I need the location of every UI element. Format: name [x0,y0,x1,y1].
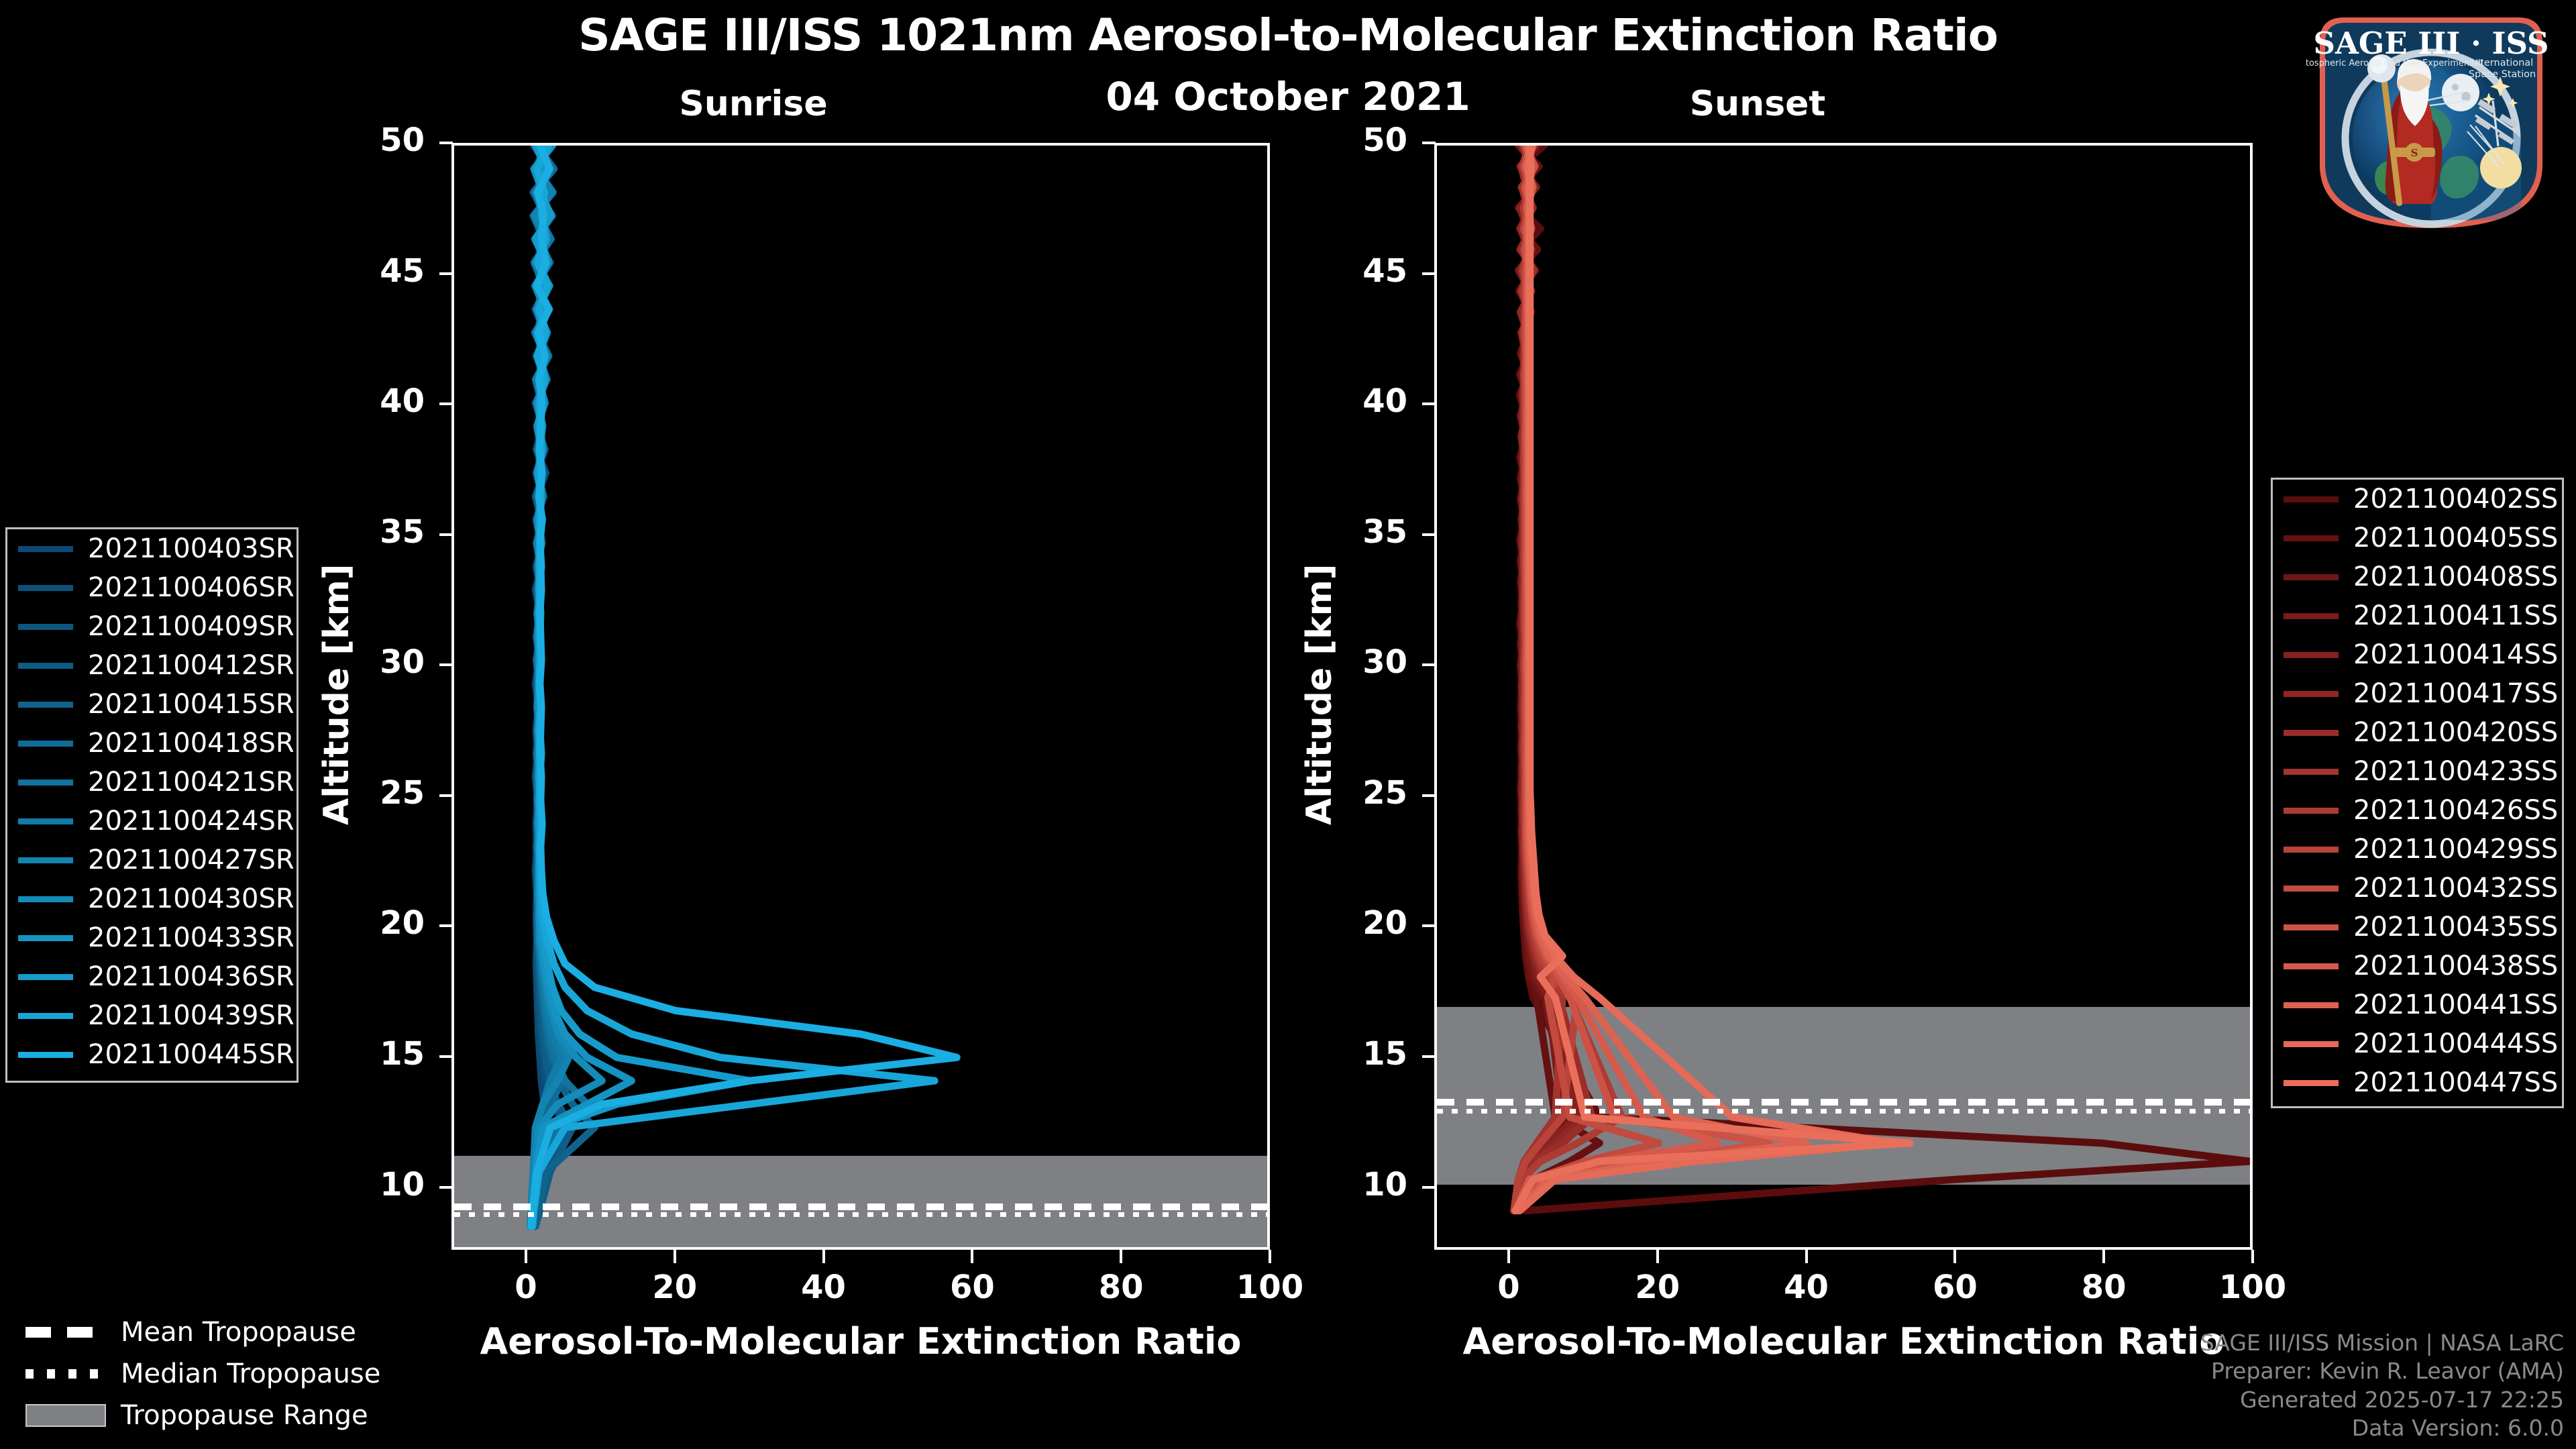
legend-row-tropopause-range: Tropopause Range [13,1395,389,1436]
legend-item-label: 2021100403SR [88,533,294,564]
gray-band-swatch-icon [25,1404,106,1427]
sunset-legend-item[interactable]: 2021100417SS [2273,674,2562,713]
legend-color-swatch [2284,1002,2339,1008]
x-tick-mark [1656,1250,1659,1263]
y-tick-label: 10 [1307,1166,1407,1203]
legend-color-swatch [18,702,73,708]
x-tick-label: 0 [1462,1269,1556,1306]
chart-page: SAGE III/ISS 1021nm Aerosol-to-Molecular… [0,0,2576,1449]
x-tick-mark [2251,1250,2254,1263]
legend-row-median-tropopause: Median Tropopause [13,1353,389,1395]
y-tick-mark [439,402,453,405]
legend-item-label: 2021100412SR [88,650,294,681]
y-tick-mark [439,272,453,275]
legend-item-label: 2021100409SR [88,611,294,642]
sunset-x-axis-label: Aerosol-To-Molecular Extinction Ratio [1434,1320,2253,1362]
legend-item-label: 2021100402SS [2353,484,2558,515]
sunset-legend-item[interactable]: 2021100432SS [2273,869,2562,908]
dashed-line-icon [25,1327,106,1338]
y-tick-mark [439,1055,453,1058]
y-tick-label: 40 [324,382,425,420]
legend-color-swatch [2284,535,2339,541]
x-tick-mark [822,1250,825,1263]
sunset-legend-item[interactable]: 2021100423SS [2273,752,2562,791]
legend-color-swatch [18,585,73,591]
y-tick-mark [439,1186,453,1189]
legend-label-median-tropopause: Median Tropopause [121,1358,380,1389]
sunrise-legend-item[interactable]: 2021100409SR [7,607,297,646]
mean-tropopause-line [454,1203,1267,1210]
x-tick-mark [1805,1250,1808,1263]
page-title: SAGE III/ISS 1021nm Aerosol-to-Molecular… [0,9,2576,61]
credit-data-version: Data Version: 6.0.0 [2200,1414,2564,1442]
legend-color-swatch [18,1013,73,1019]
x-tick-mark [1953,1250,1956,1263]
legend-item-label: 2021100433SR [88,922,294,953]
sunrise-legend-item[interactable]: 2021100412SR [7,646,297,685]
sunrise-legend-item[interactable]: 2021100421SR [7,763,297,802]
y-tick-mark [1422,663,1436,666]
legend-label-mean-tropopause: Mean Tropopause [121,1317,356,1348]
sunrise-legend-item[interactable]: 2021100403SR [7,529,297,568]
x-tick-mark [1120,1250,1122,1263]
sage-iii-iss-mission-patch-logo: S BALL • NASA LANGLEY RESEARCH CENTER • … [2306,7,2556,228]
sunrise-event-legend[interactable]: 2021100403SR2021100406SR2021100409SR2021… [5,527,299,1083]
y-tick-mark [439,663,453,666]
legend-row-mean-tropopause: Mean Tropopause [13,1311,389,1353]
y-tick-label: 15 [1307,1035,1407,1073]
logo-subtitle-right-1: International [2471,58,2534,68]
y-tick-label: 35 [1307,513,1407,551]
sunrise-legend-item[interactable]: 2021100406SR [7,568,297,607]
sunrise-y-axis-label: Altitude [km] [317,563,357,825]
y-tick-mark [1422,142,1436,144]
legend-color-swatch [18,546,73,552]
legend-item-label: 2021100427SR [88,845,294,875]
legend-item-label: 2021100417SS [2353,678,2558,709]
legend-color-swatch [2284,808,2339,814]
tropopause-legend: Mean Tropopause Median Tropopause Tropop… [13,1311,389,1436]
x-tick-mark [971,1250,973,1263]
y-tick-mark [439,924,453,927]
x-tick-label: 20 [628,1269,722,1306]
y-tick-label: 35 [324,513,425,551]
y-tick-label: 45 [1307,252,1407,290]
legend-color-swatch [2284,1080,2339,1086]
sunset-legend-item[interactable]: 2021100429SS [2273,830,2562,869]
legend-item-label: 2021100438SS [2353,951,2558,981]
legend-color-swatch [2284,691,2339,697]
y-tick-label: 50 [1307,121,1407,159]
legend-item-label: 2021100420SS [2353,717,2558,748]
x-tick-label: 80 [2057,1269,2151,1306]
sunrise-plot-area [451,143,1270,1250]
legend-color-swatch [2284,885,2339,892]
y-tick-label: 10 [324,1166,425,1203]
legend-color-swatch [18,974,73,980]
profile-traces [1437,146,2250,1247]
x-tick-label: 100 [2206,1269,2300,1306]
x-tick-label: 100 [1223,1269,1317,1306]
x-tick-label: 0 [479,1269,573,1306]
svg-text:S: S [2411,147,2418,159]
y-tick-label: 20 [324,904,425,942]
x-tick-label: 60 [1908,1269,2002,1306]
y-tick-mark [439,533,453,536]
sunrise-legend-item[interactable]: 2021100430SR [7,879,297,918]
x-tick-label: 80 [1074,1269,1168,1306]
legend-color-swatch [2284,847,2339,853]
sunset-legend-item[interactable]: 2021100414SS [2273,635,2562,674]
x-tick-mark [1269,1250,1271,1263]
sunset-legend-item[interactable]: 2021100435SS [2273,908,2562,947]
median-tropopause-line [454,1212,1267,1217]
x-tick-mark [2102,1250,2105,1263]
sunset-legend-item[interactable]: 2021100441SS [2273,985,2562,1024]
y-tick-mark [1422,1186,1436,1189]
legend-color-swatch [18,741,73,747]
legend-color-swatch [18,780,73,786]
legend-label-tropopause-range: Tropopause Range [121,1400,368,1431]
y-tick-mark [439,142,453,144]
sunrise-legend-item[interactable]: 2021100415SR [7,685,297,724]
y-tick-label: 15 [324,1035,425,1073]
logo-subtitle-right-2: Space Station [2469,69,2536,80]
sunrise-legend-item[interactable]: 2021100427SR [7,841,297,879]
sunrise-panel-heading: Sunrise [653,84,854,124]
logo-title: SAGE III · ISS [2313,25,2548,61]
legend-item-label: 2021100418SR [88,728,294,759]
sunset-legend-item[interactable]: 2021100444SS [2273,1024,2562,1063]
legend-item-label: 2021100405SS [2353,523,2558,553]
legend-item-label: 2021100421SR [88,767,294,798]
y-tick-label: 20 [1307,904,1407,942]
legend-item-label: 2021100432SS [2353,873,2558,904]
legend-color-swatch [18,624,73,630]
sunset-legend-item[interactable]: 2021100408SS [2273,557,2562,596]
sunset-legend-item[interactable]: 2021100447SS [2273,1063,2562,1102]
sunset-legend-item[interactable]: 2021100426SS [2273,791,2562,830]
y-tick-label: 45 [324,252,425,290]
sunset-event-legend[interactable]: 2021100402SS2021100405SS2021100408SS2021… [2271,478,2564,1108]
legend-item-label: 2021100439SR [88,1000,294,1031]
y-tick-mark [1422,794,1436,797]
legend-item-label: 2021100444SS [2353,1028,2558,1059]
sunrise-legend-item[interactable]: 2021100433SR [7,918,297,957]
y-tick-mark [1422,272,1436,275]
legend-color-swatch [2284,963,2339,969]
x-tick-mark [525,1250,527,1263]
legend-color-swatch [2284,574,2339,580]
legend-item-label: 2021100447SS [2353,1067,2558,1098]
median-tropopause-line [1437,1109,2250,1114]
credit-mission: SAGE III/ISS Mission | NASA LaRC [2200,1329,2564,1357]
sunrise-legend-item[interactable]: 2021100445SR [7,1035,297,1074]
sunrise-legend-item[interactable]: 2021100418SR [7,724,297,763]
legend-item-label: 2021100426SS [2353,795,2558,826]
sunset-y-axis-label: Altitude [km] [1299,563,1340,825]
legend-color-swatch [2284,924,2339,930]
legend-item-label: 2021100429SS [2353,834,2558,865]
x-tick-mark [1507,1250,1510,1263]
y-tick-label: 40 [1307,382,1407,420]
sunrise-legend-item[interactable]: 2021100439SR [7,996,297,1035]
logo-subtitle-left: Stratospheric Aerosol and Gas Experiment… [2306,58,2483,68]
legend-color-swatch [18,935,73,941]
dotted-line-icon [25,1369,106,1379]
legend-color-swatch [2284,730,2339,736]
x-tick-label: 20 [1611,1269,1705,1306]
legend-color-swatch [2284,769,2339,775]
legend-color-swatch [18,896,73,902]
legend-item-label: 2021100424SR [88,806,294,837]
legend-item-label: 2021100435SS [2353,912,2558,943]
profile-traces [454,146,1267,1247]
legend-item-label: 2021100430SR [88,883,294,914]
page-subtitle-date: 04 October 2021 [0,74,2576,119]
x-tick-mark [674,1250,676,1263]
y-tick-mark [1422,1055,1436,1058]
sunset-plot-area [1434,143,2253,1250]
x-tick-label: 60 [925,1269,1019,1306]
y-tick-mark [439,794,453,797]
sunset-legend-item[interactable]: 2021100420SS [2273,713,2562,752]
sunrise-x-axis-label: Aerosol-To-Molecular Extinction Ratio [451,1320,1270,1362]
sunset-legend-item[interactable]: 2021100405SS [2273,519,2562,557]
sunset-legend-item[interactable]: 2021100402SS [2273,480,2562,519]
y-tick-mark [1422,533,1436,536]
legend-item-label: 2021100408SS [2353,561,2558,592]
legend-item-label: 2021100423SS [2353,756,2558,787]
legend-color-swatch [2284,613,2339,619]
legend-color-swatch [18,1052,73,1058]
x-tick-label: 40 [1760,1269,1854,1306]
legend-item-label: 2021100406SR [88,572,294,603]
legend-color-swatch [2284,496,2339,502]
legend-color-swatch [18,857,73,863]
y-tick-mark [1422,924,1436,927]
x-tick-label: 40 [777,1269,871,1306]
credit-generated: Generated 2025-07-17 22:25 [2200,1386,2564,1414]
legend-color-swatch [2284,1041,2339,1047]
sunrise-legend-item[interactable]: 2021100424SR [7,802,297,841]
credit-preparer: Preparer: Kevin R. Leavor (AMA) [2200,1357,2564,1385]
y-tick-label: 50 [324,121,425,159]
sunrise-legend-item[interactable]: 2021100436SR [7,957,297,996]
credits-block: SAGE III/ISS Mission | NASA LaRC Prepare… [2200,1329,2564,1442]
sunset-legend-item[interactable]: 2021100438SS [2273,947,2562,985]
sunset-legend-item[interactable]: 2021100411SS [2273,596,2562,635]
sunset-panel-heading: Sunset [1657,84,1858,124]
legend-item-label: 2021100411SS [2353,600,2558,631]
legend-item-label: 2021100414SS [2353,639,2558,670]
legend-color-swatch [18,663,73,669]
mean-tropopause-line [1437,1099,2250,1106]
legend-item-label: 2021100436SR [88,961,294,992]
legend-color-swatch [2284,652,2339,658]
legend-color-swatch [18,818,73,824]
y-tick-mark [1422,402,1436,405]
legend-item-label: 2021100445SR [88,1039,294,1070]
legend-item-label: 2021100441SS [2353,989,2558,1020]
legend-item-label: 2021100415SR [88,689,294,720]
